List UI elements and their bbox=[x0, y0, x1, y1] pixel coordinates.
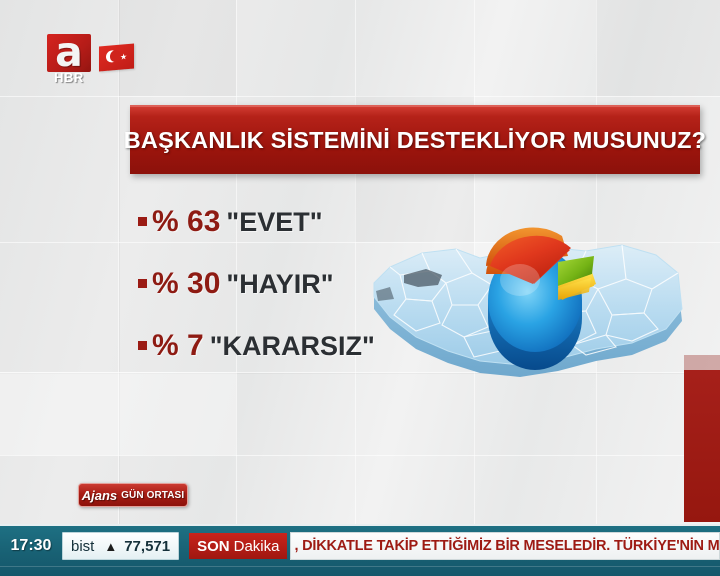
result-label: "HAYIR" bbox=[226, 269, 333, 300]
breaking-rest: Dakika bbox=[234, 538, 280, 555]
bullet-icon bbox=[138, 279, 147, 288]
result-label: "EVET" bbox=[226, 207, 322, 238]
up-arrow-icon: ▲ bbox=[104, 539, 117, 554]
bg-texture-line bbox=[0, 455, 720, 456]
pie-highlight bbox=[500, 264, 540, 296]
headline-text: BAŞKANLIK SİSTEMİNİ DESTEKLİYOR MUSUNUZ? bbox=[130, 107, 700, 174]
bg-panel bbox=[596, 0, 720, 96]
stock-index-box[interactable]: bist ▲ 77,571 bbox=[62, 532, 179, 560]
logo-letter: a bbox=[47, 30, 91, 74]
breaking-bold: SON bbox=[197, 538, 230, 555]
program-name: Ajans bbox=[82, 488, 117, 503]
ticker-divider bbox=[0, 566, 720, 567]
result-label: "KARARSIZ" bbox=[210, 331, 375, 362]
ticker-strip: 17:30 bist ▲ 77,571 SON Dakika , DİKKATL… bbox=[0, 532, 720, 560]
program-subtitle: GÜN ORTASI bbox=[121, 490, 184, 501]
right-red-panel bbox=[684, 370, 720, 522]
bg-texture-line bbox=[0, 96, 720, 97]
turkish-flag-icon: ★ bbox=[99, 43, 134, 71]
broadcast-screen: a HBR ★ BAŞKANLIK SİSTEMİNİ DESTEKLİYOR … bbox=[0, 0, 720, 576]
flag-star: ★ bbox=[120, 53, 127, 62]
news-ticker: , DİKKATLE TAKİP ETTİĞİMİZ BİR MESELEDİR… bbox=[290, 532, 720, 560]
right-red-panel-cap bbox=[684, 355, 720, 370]
headline-banner: BAŞKANLIK SİSTEMİNİ DESTEKLİYOR MUSUNUZ? bbox=[130, 105, 700, 174]
ticker-headline: , DİKKATLE TAKİP ETTİĞİMİZ BİR MESELEDİR… bbox=[291, 538, 720, 554]
index-value: 77,571 bbox=[124, 538, 170, 555]
channel-logo: a HBR bbox=[47, 34, 91, 86]
index-name: bist bbox=[71, 538, 94, 555]
bg-panel bbox=[118, 0, 236, 96]
program-badge: Ajans GÜN ORTASI bbox=[78, 483, 188, 507]
breaking-news-badge: SON Dakika bbox=[189, 533, 287, 559]
result-percent: % 7 bbox=[152, 329, 204, 363]
result-percent: % 63 bbox=[152, 205, 220, 239]
clock-label: 17:30 bbox=[0, 537, 62, 555]
bullet-icon bbox=[138, 341, 147, 350]
result-percent: % 30 bbox=[152, 267, 220, 301]
pie-chart bbox=[470, 222, 600, 377]
bullet-icon bbox=[138, 217, 147, 226]
logo-subtext: HBR bbox=[47, 70, 91, 85]
bottom-ticker-bar: 17:30 bist ▲ 77,571 SON Dakika , DİKKATL… bbox=[0, 524, 720, 576]
